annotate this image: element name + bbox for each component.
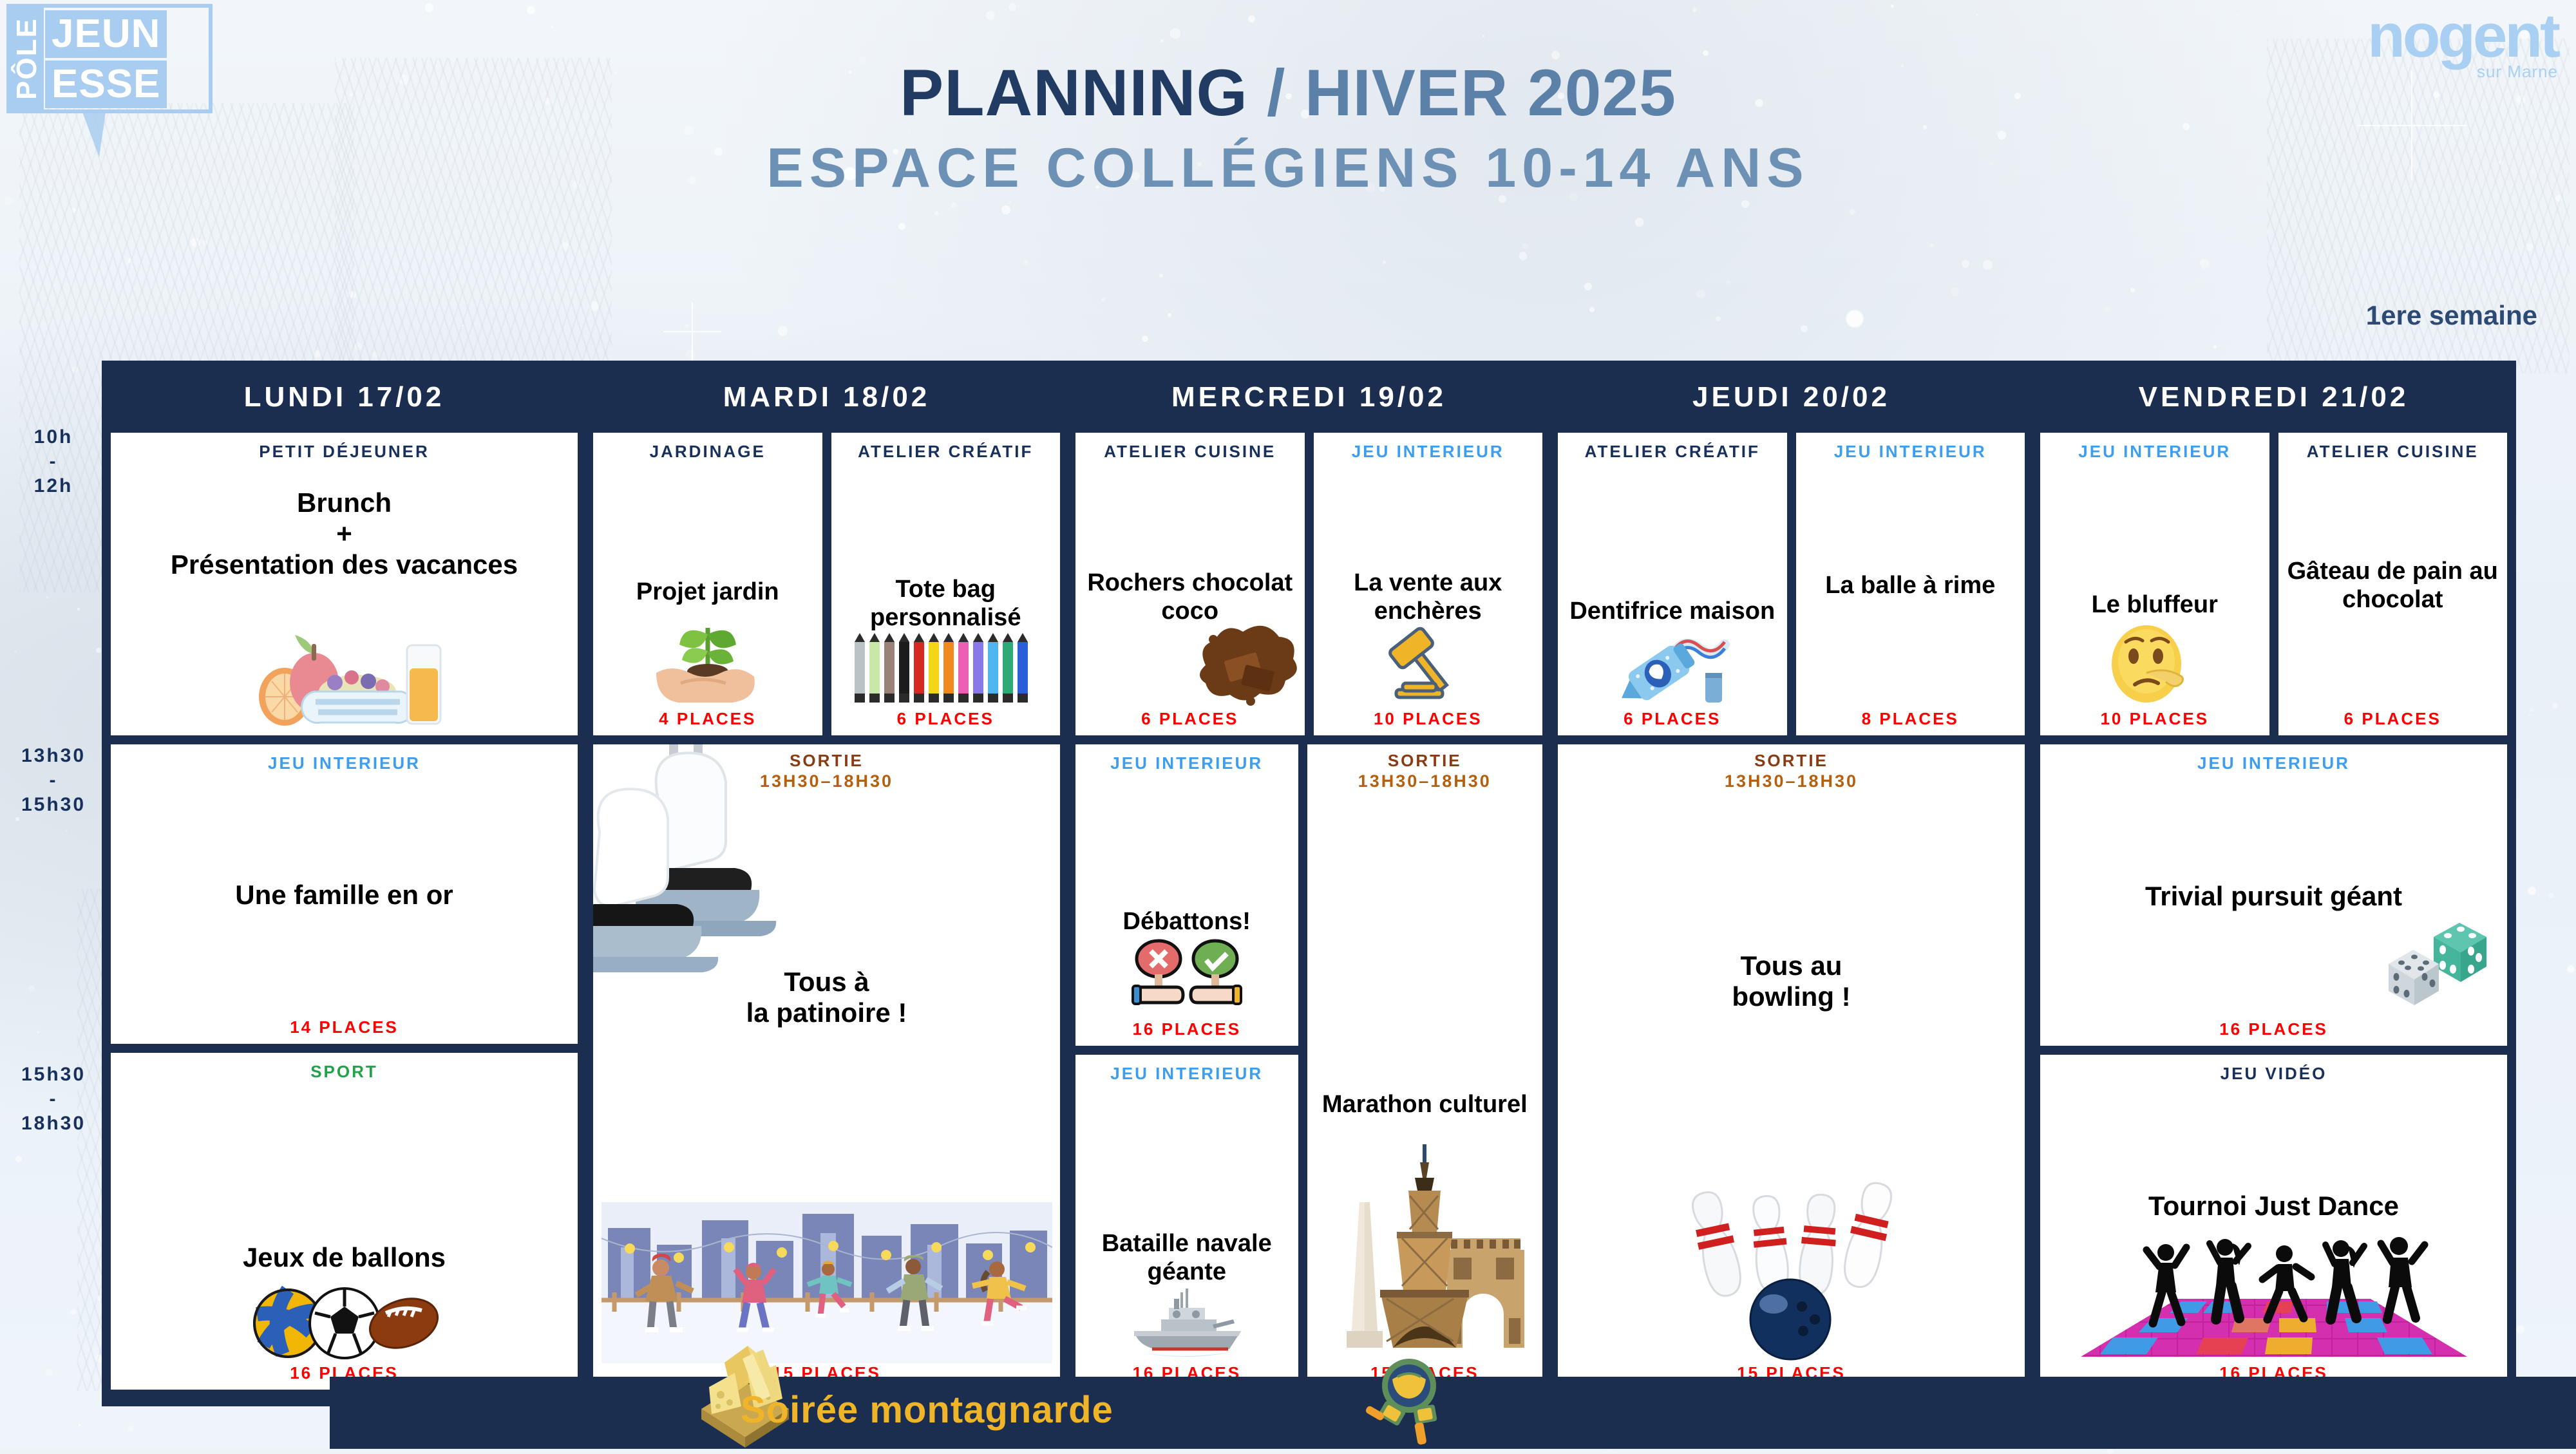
banner-text: Soirée montagnarde (741, 1388, 1113, 1431)
card-title: Jeux de ballons (243, 1242, 446, 1273)
card-title: Dentifrice maison (1569, 597, 1775, 625)
card-title: Tote bag personnalisé (838, 575, 1054, 632)
dice-icon (2389, 916, 2498, 1010)
markers-icon (852, 632, 1039, 709)
logo-jeun-text: JEUN (45, 10, 167, 58)
page-title-main: PLANNING (900, 56, 1248, 129)
card-title: Tous aubowling ! (1732, 950, 1850, 1012)
fondue-pan-icon (1359, 1351, 1455, 1448)
card-subtime: 13H30–18H30 (1725, 770, 1858, 792)
activity-card-vendredi-just-dance[interactable]: JEU VIDÉO Tournoi Just Dance (2040, 1055, 2507, 1390)
time-slot-2: 13h30-15h30 (5, 744, 102, 817)
card-kicker: JEU INTERIEUR (2197, 753, 2350, 773)
ice-rink-icon (601, 1202, 1052, 1363)
activity-card-mardi-sortie-patinoire[interactable]: SORTIE 13H30–18H30 (593, 744, 1060, 1390)
card-places: 4 PLACES (659, 709, 756, 729)
card-title: Marathon culturel (1322, 1090, 1528, 1119)
breakfast-bowl-icon (238, 607, 451, 729)
activity-card-mercredi-cuisine[interactable]: ATELIER CUISINE Rochers chocolat coco 6 … (1075, 433, 1305, 735)
card-title: Tournoi Just Dance (2148, 1191, 2399, 1222)
card-kicker: JEU INTERIEUR (2078, 442, 2231, 461)
column-mercredi: ATELIER CUISINE Rochers chocolat coco 6 … (1068, 433, 1550, 1399)
card-title: Trivial pursuit géant (2145, 881, 2402, 912)
gavel-icon (1379, 625, 1476, 709)
chocolate-icon (1195, 625, 1298, 709)
activity-card-lundi-afternoon[interactable]: JEU INTERIEUR Une famille en or 14 PLACE… (111, 744, 578, 1044)
sprout-hand-icon (643, 606, 772, 709)
card-kicker: SPORT (310, 1062, 378, 1081)
activity-card-vendredi-gateau[interactable]: ATELIER CUISINE Gâteau de pain au chocol… (2278, 433, 2508, 735)
bowling-icon (1676, 1170, 1908, 1363)
card-kicker: JEU INTERIEUR (1110, 1064, 1263, 1083)
card-kicker: PETIT DÉJEUNER (259, 442, 430, 461)
card-kicker: JEU INTERIEUR (1110, 753, 1263, 773)
card-places: 16 PLACES (1132, 1019, 1241, 1039)
card-places: 14 PLACES (290, 1017, 399, 1037)
card-title: Rochers chocolat coco (1082, 569, 1298, 625)
card-title: La balle à rime (1825, 571, 1995, 600)
card-kicker: ATELIER CUISINE (2307, 442, 2479, 461)
vote-paddles-icon (1122, 936, 1251, 1019)
activity-card-jeudi-balle-rime[interactable]: JEU INTERIEUR La balle à rime 8 PLACES (1796, 433, 2025, 735)
card-kicker: ATELIER CRÉATIF (1585, 442, 1760, 461)
card-kicker: ATELIER CRÉATIF (858, 442, 1033, 461)
day-columns: PETIT DÉJEUNER Brunch+Présentation des v… (103, 433, 2515, 1399)
activity-card-mercredi-encheres[interactable]: JEU INTERIEUR La vente aux enchères (1314, 433, 1543, 735)
card-title: Projet jardin (636, 578, 779, 606)
card-title: Débattons! (1123, 907, 1251, 936)
ice-skates-icon (593, 744, 831, 986)
card-places: 8 PLACES (1862, 709, 1959, 729)
card-kicker: SORTIE (1754, 751, 1828, 770)
lying-face-icon (2107, 619, 2203, 709)
activity-card-mercredi-sortie-marathon[interactable]: SORTIE 13H30–18H30 Marathon culturel (1307, 744, 1543, 1390)
activity-card-vendredi-bluffeur[interactable]: JEU INTERIEUR Le bluffeur (2040, 433, 2269, 735)
page-subtitle: ESPACE COLLÉGIENS 10-14 ANS (0, 137, 2576, 200)
balls-icon (248, 1273, 441, 1363)
card-title: Gâteau de pain au chocolat (2285, 557, 2501, 614)
card-places: 6 PLACES (2344, 709, 2441, 729)
card-kicker: JEU VIDÉO (2221, 1064, 2327, 1083)
day-header-mercredi: MERCREDI 19/02 (1068, 362, 1550, 433)
activity-card-mercredi-debattons[interactable]: JEU INTERIEUR Débattons! (1075, 744, 1298, 1046)
card-title: Le bluffeur (2092, 590, 2218, 619)
column-mardi: JARDINAGE Projet jardin (585, 433, 1068, 1399)
warship-icon (1122, 1286, 1251, 1363)
evening-banner: Soirée montagnarde (0, 1377, 2576, 1449)
column-vendredi: JEU INTERIEUR Le bluffeur (2032, 433, 2515, 1399)
paris-monuments-icon (1325, 1119, 1524, 1363)
column-jeudi: ATELIER CRÉATIF Dentifrice maison (1550, 433, 2032, 1399)
card-places: 16 PLACES (2219, 1019, 2328, 1039)
day-header-mardi: MARDI 18/02 (585, 362, 1068, 433)
card-kicker: JEU INTERIEUR (1834, 442, 1987, 461)
card-places: 10 PLACES (1374, 709, 1482, 729)
card-places: 6 PLACES (897, 709, 994, 729)
card-kicker: ATELIER CUISINE (1104, 442, 1276, 461)
card-places: 6 PLACES (1141, 709, 1238, 729)
column-lundi: PETIT DÉJEUNER Brunch+Présentation des v… (103, 433, 585, 1399)
page-title: PLANNING / HIVER 2025 (0, 55, 2576, 131)
card-title: Bataille navale géante (1082, 1229, 1292, 1286)
card-title: Une famille en or (235, 880, 453, 911)
card-kicker: SORTIE (1388, 751, 1462, 770)
day-header-jeudi: JEUDI 20/02 (1550, 362, 2032, 433)
planning-grid: LUNDI 17/02 MARDI 18/02 MERCREDI 19/02 J… (103, 362, 2515, 1405)
week-label: 1ere semaine (2366, 300, 2537, 331)
card-kicker: JARDINAGE (650, 442, 766, 461)
card-subtime: 13H30–18H30 (1358, 770, 1492, 792)
day-header-row: LUNDI 17/02 MARDI 18/02 MERCREDI 19/02 J… (103, 362, 2515, 433)
page-title-rest: / HIVER 2025 (1248, 56, 1676, 129)
activity-card-lundi-morning[interactable]: PETIT DÉJEUNER Brunch+Présentation des v… (111, 433, 578, 735)
card-title: Brunch+Présentation des vacances (171, 487, 518, 580)
card-places: 10 PLACES (2100, 709, 2209, 729)
day-header-lundi: LUNDI 17/02 (103, 362, 585, 433)
card-kicker: JEU INTERIEUR (1352, 442, 1504, 461)
card-title: La vente aux enchères (1320, 569, 1537, 625)
time-slot-1: 10h-12h (5, 425, 102, 498)
activity-card-lundi-evening[interactable]: SPORT Jeux de ballons (111, 1053, 578, 1390)
dancefloor-icon (2074, 1222, 2474, 1363)
activity-card-mardi-jardinage[interactable]: JARDINAGE Projet jardin (593, 433, 822, 735)
day-header-vendredi: VENDREDI 21/02 (2032, 362, 2515, 433)
card-places: 6 PLACES (1624, 709, 1721, 729)
activity-card-jeudi-dentifrice[interactable]: ATELIER CRÉATIF Dentifrice maison (1558, 433, 1787, 735)
activity-card-jeudi-sortie-bowling[interactable]: SORTIE 13H30–18H30 Tous aubowling ! (1558, 744, 2025, 1390)
toothpaste-icon (1611, 625, 1734, 709)
activity-card-mercredi-bataille[interactable]: JEU INTERIEUR Bataille navale géante (1075, 1055, 1298, 1390)
time-slot-3: 15h30-18h30 (5, 1062, 102, 1136)
card-kicker: JEU INTERIEUR (268, 753, 421, 773)
activity-card-vendredi-trivial[interactable]: JEU INTERIEUR Trivial pursuit géant (2040, 744, 2507, 1046)
activity-card-mardi-atelier-creatif[interactable]: ATELIER CRÉATIF Tote bag personnalisé (831, 433, 1061, 735)
